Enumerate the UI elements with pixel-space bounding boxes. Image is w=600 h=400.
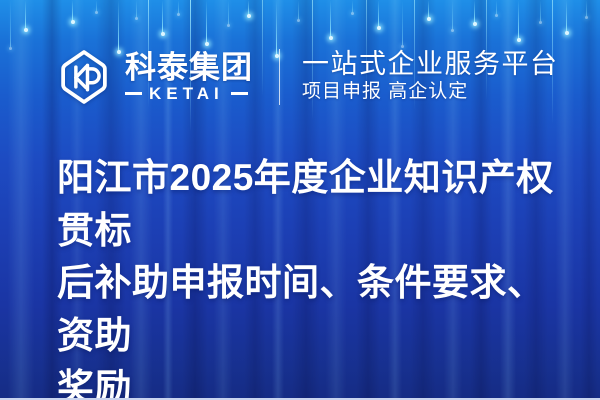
dash-left-icon	[125, 92, 142, 95]
promo-banner: 科泰集团 KETAI 一站式企业服务平台 项目申报 高企认定 阳江市2025年度…	[0, 0, 600, 400]
company-name-cn: 科泰集团	[125, 52, 253, 84]
company-name-en-row: KETAI	[125, 85, 253, 102]
ketai-logo-icon	[55, 48, 113, 106]
header-divider	[279, 49, 280, 105]
banner-title: 阳江市2025年度企业知识产权贯标 后补助申报时间、条件要求、资助 奖励	[57, 152, 570, 400]
company-name-en: KETAI	[149, 85, 224, 102]
banner-header: 科泰集团 KETAI 一站式企业服务平台 项目申报 高企认定	[0, 38, 600, 116]
dash-right-icon	[231, 92, 248, 95]
tagline-sub: 项目申报 高企认定	[302, 80, 559, 105]
tagline-block: 一站式企业服务平台 项目申报 高企认定	[302, 49, 559, 105]
tagline-main: 一站式企业服务平台	[302, 49, 559, 79]
wordmark: 科泰集团 KETAI	[125, 52, 253, 103]
brand-lockup: 科泰集团 KETAI	[55, 48, 253, 106]
